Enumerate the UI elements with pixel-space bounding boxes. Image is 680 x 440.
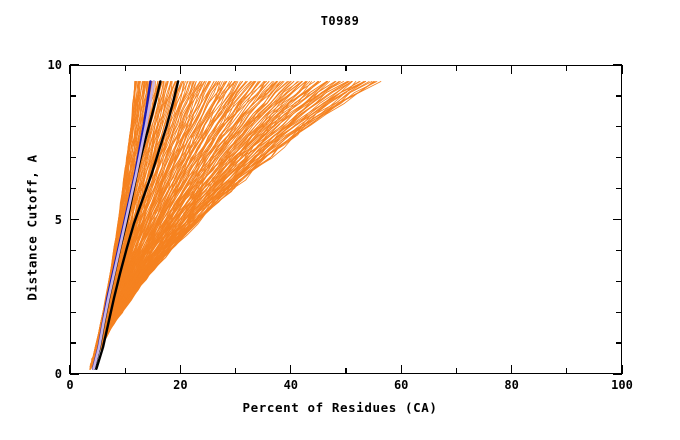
y-axis-tick (616, 342, 622, 343)
curves-canvas (71, 66, 621, 373)
x-axis-tick (345, 368, 346, 374)
x-tick-label: 40 (284, 378, 298, 392)
x-axis-tick (345, 65, 346, 71)
y-axis-tick (70, 64, 79, 65)
x-axis-tick (235, 368, 236, 374)
x-tick-label: 20 (173, 378, 187, 392)
y-axis-tick (616, 281, 622, 282)
x-axis-tick (235, 65, 236, 71)
x-axis-tick (511, 365, 512, 374)
x-axis-tick (180, 65, 181, 74)
y-axis-tick (616, 95, 622, 96)
x-axis-tick (621, 65, 622, 74)
y-axis-tick (616, 188, 622, 189)
x-axis-tick (401, 65, 402, 74)
y-axis-title: Distance Cutoff, A (25, 118, 40, 338)
x-axis-tick (456, 65, 457, 71)
x-tick-label: 60 (394, 378, 408, 392)
y-tick-label: 10 (36, 58, 62, 72)
x-axis-tick (290, 65, 291, 74)
y-axis-tick (616, 157, 622, 158)
y-axis-tick (70, 219, 79, 220)
x-axis-tick (456, 368, 457, 374)
plot-area (70, 65, 622, 374)
chart-root: T0989 Percent of Residues (CA) Distance … (0, 0, 680, 440)
x-axis-tick (180, 365, 181, 374)
x-tick-label: 100 (611, 378, 633, 392)
x-axis-tick (290, 365, 291, 374)
y-axis-tick (70, 157, 76, 158)
y-axis-tick (70, 250, 76, 251)
y-axis-tick (616, 312, 622, 313)
y-axis-tick (70, 342, 76, 343)
y-axis-tick (70, 373, 79, 374)
y-tick-label: 0 (36, 367, 62, 381)
x-tick-label: 80 (504, 378, 518, 392)
y-axis-tick (613, 219, 622, 220)
y-axis-tick (616, 126, 622, 127)
x-axis-tick (566, 368, 567, 374)
y-axis-tick (70, 188, 76, 189)
y-axis-tick (70, 281, 76, 282)
y-axis-tick (70, 126, 76, 127)
prediction-curves (71, 66, 621, 373)
y-axis-tick (70, 312, 76, 313)
y-axis-tick (613, 64, 622, 65)
x-axis-tick (511, 65, 512, 74)
x-axis-tick (566, 65, 567, 71)
y-tick-label: 5 (36, 213, 62, 227)
y-axis-tick (616, 250, 622, 251)
y-axis-tick (613, 373, 622, 374)
x-axis-tick (125, 65, 126, 71)
x-axis-tick (69, 65, 70, 74)
x-axis-tick (401, 365, 402, 374)
x-axis-tick (125, 368, 126, 374)
x-axis-title: Percent of Residues (CA) (0, 400, 680, 415)
chart-title: T0989 (0, 14, 680, 28)
x-tick-label: 0 (66, 378, 73, 392)
y-axis-tick (70, 95, 76, 96)
